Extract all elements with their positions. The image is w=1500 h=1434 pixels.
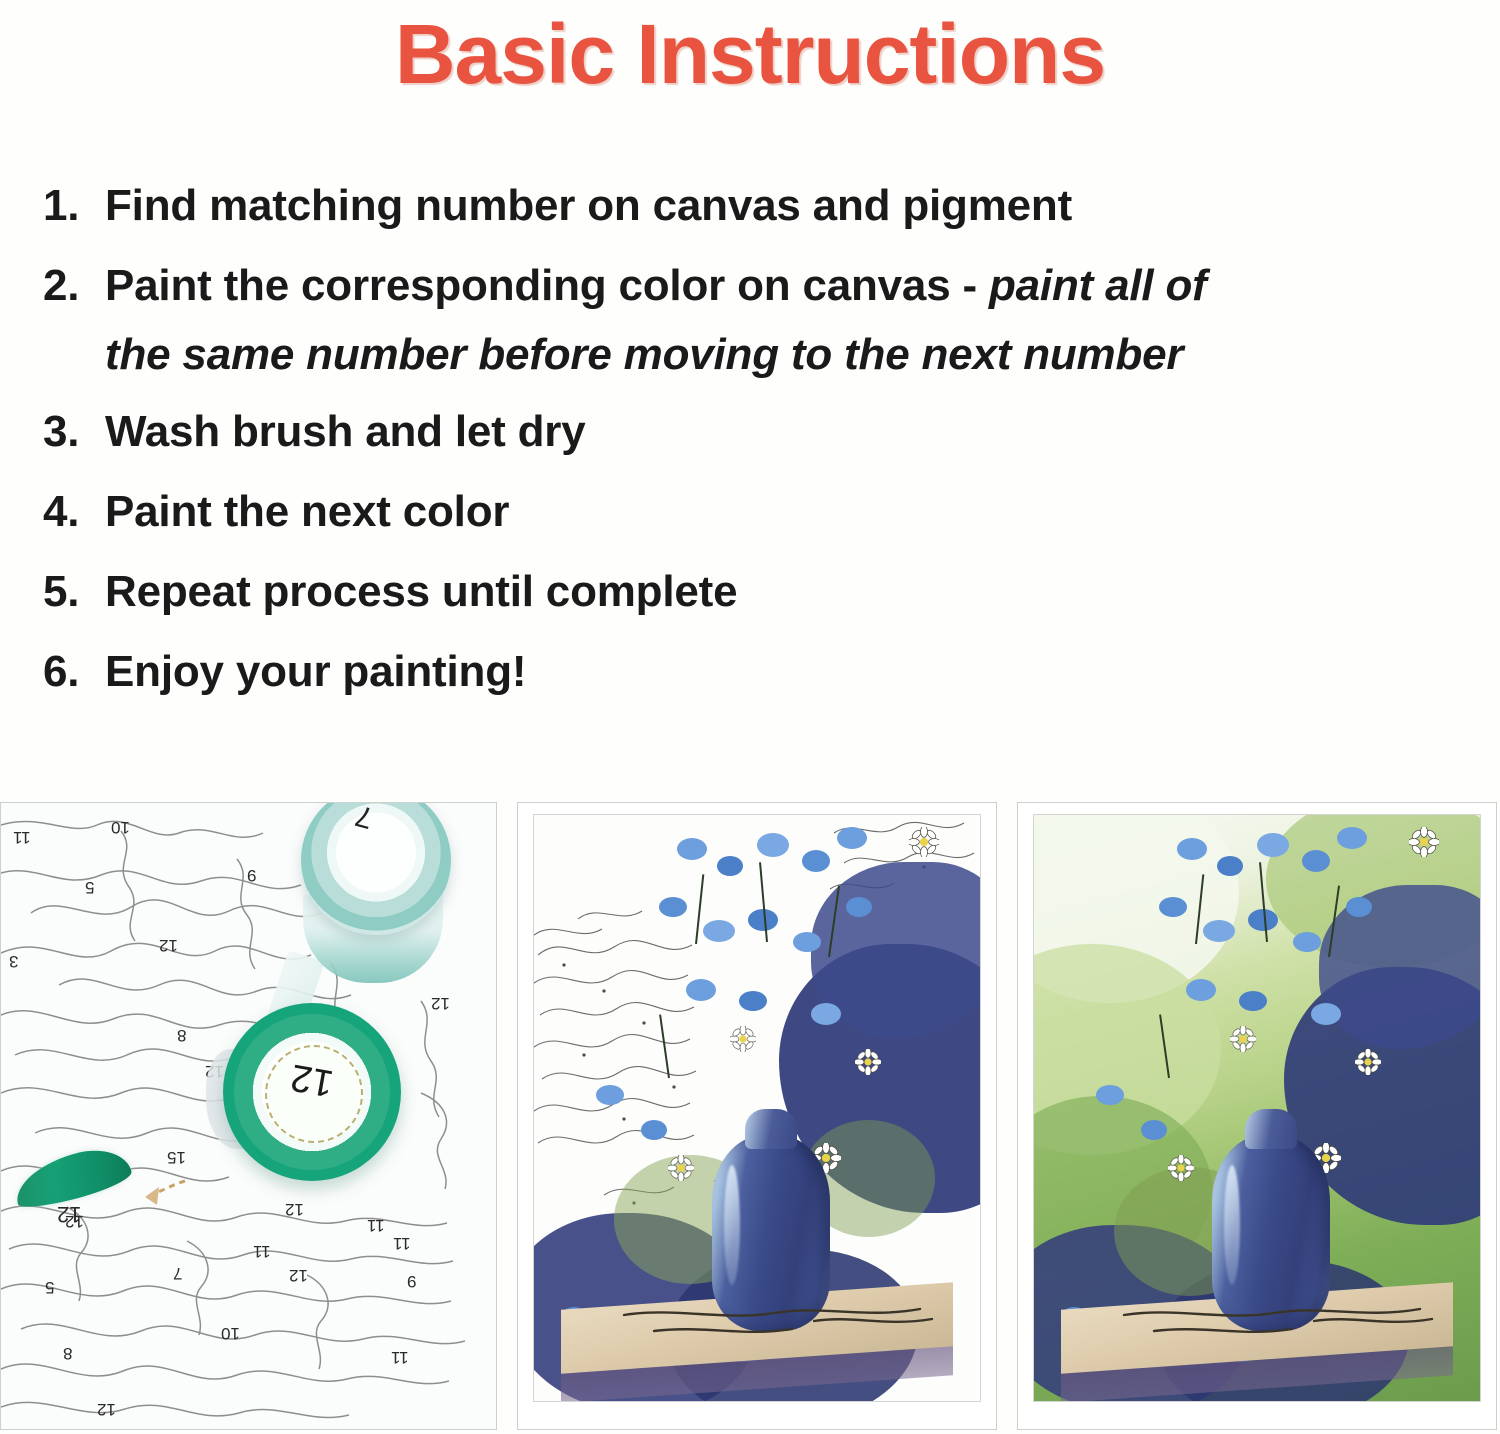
panel-in-progress: [517, 802, 997, 1430]
arrow-target-number: 12: [57, 1201, 81, 1227]
vase-highlight: [724, 1165, 740, 1285]
canvas-number: 5: [85, 877, 94, 897]
panel-blank-canvas: 11 10 5 9 3 12 8 12 12 11 15 9 12 11 12 …: [0, 802, 497, 1430]
instruction-text: Wash brush and let dry: [105, 410, 1460, 454]
paint-pot-label-12: 12: [288, 1055, 337, 1105]
canvas-number: 7: [173, 1263, 182, 1283]
cornflower: [596, 1085, 624, 1105]
cornflower: [1257, 833, 1289, 857]
blue-vase: [712, 1135, 830, 1331]
instruction-number: 4.: [43, 490, 105, 534]
instruction-number: 6.: [43, 650, 105, 694]
artwork-frame: [1034, 815, 1480, 1401]
canvas-number: 11: [367, 1215, 385, 1235]
instruction-item-2: 2. Paint the corresponding color on canv…: [43, 264, 1460, 308]
numbered-canvas: 11 10 5 9 3 12 8 12 12 11 15 9 12 11 12 …: [1, 803, 496, 1429]
canvas-number: 8: [177, 1025, 186, 1045]
daisy-flower: [668, 1155, 694, 1181]
cornflower: [739, 991, 767, 1011]
canvas-number: 12: [431, 993, 450, 1013]
panel-row: 11 10 5 9 3 12 8 12 12 11 15 9 12 11 12 …: [0, 802, 1500, 1434]
vase-neck: [1245, 1109, 1297, 1149]
cornflower: [1159, 897, 1187, 917]
daisy-flower: [1409, 827, 1439, 857]
cornflower: [1293, 932, 1321, 952]
canvas-number: 12: [159, 935, 178, 955]
canvas-number: 11: [253, 1241, 271, 1261]
daisy-flower: [730, 1026, 756, 1052]
cornflower: [837, 827, 867, 849]
instruction-continuation-2: the same number before moving to the nex…: [105, 330, 1460, 380]
page-title: Basic Instructions: [0, 0, 1500, 96]
instruction-number: 2.: [43, 264, 105, 308]
cornflower: [641, 1120, 667, 1140]
instruction-number: 5.: [43, 570, 105, 614]
canvas-number: 10: [221, 1323, 240, 1343]
instruction-text: Repeat process until complete: [105, 570, 1460, 614]
instruction-item-5: 5. Repeat process until complete: [43, 570, 1460, 614]
cornflower: [659, 897, 687, 917]
canvas-number: 10: [111, 817, 130, 837]
daisy-flower: [909, 827, 939, 857]
canvas-number: 8: [63, 1343, 72, 1363]
blue-vase: [1212, 1135, 1330, 1331]
panel-finished: [1017, 802, 1497, 1430]
panel-gap: [497, 802, 517, 1434]
cornflower: [757, 833, 789, 857]
daisy-flower: [1168, 1155, 1194, 1181]
cornflower: [1337, 827, 1367, 849]
canvas-number: 5: [45, 1277, 54, 1297]
instruction-text: Paint the next color: [105, 490, 1460, 534]
canvas-number: 3: [9, 951, 18, 971]
instruction-text: Enjoy your painting!: [105, 650, 1460, 694]
cornflower: [1141, 1120, 1167, 1140]
vase-highlight: [1224, 1165, 1240, 1285]
cornflower: [717, 856, 743, 876]
canvas-number: 11: [13, 827, 31, 847]
canvas-number: 12: [97, 1399, 116, 1419]
canvas-number: 11: [391, 1347, 409, 1367]
canvas-number: 9: [247, 865, 256, 885]
canvas-number: 12: [285, 1199, 304, 1219]
instruction-item-4: 4. Paint the next color: [43, 490, 1460, 534]
cornflower: [802, 850, 830, 872]
daisy-flower: [1355, 1049, 1381, 1075]
cornflower: [1311, 1003, 1341, 1025]
cornflower: [1239, 991, 1267, 1011]
instruction-item-3: 3. Wash brush and let dry: [43, 410, 1460, 454]
cornflower: [1186, 979, 1216, 1001]
instruction-number: 1.: [43, 184, 105, 228]
instruction-text-emphasis: paint all of: [989, 261, 1207, 310]
canvas-number: 11: [393, 1233, 411, 1253]
instruction-item-1: 1. Find matching number on canvas and pi…: [43, 184, 1460, 228]
canvas-number: 12: [289, 1265, 308, 1285]
artwork-in-progress: [534, 815, 980, 1401]
instruction-item-6: 6. Enjoy your painting!: [43, 650, 1460, 694]
artwork-frame: [534, 815, 980, 1401]
cornflower: [811, 1003, 841, 1025]
vase-neck: [745, 1109, 797, 1149]
instruction-number: 3.: [43, 410, 105, 454]
artwork-finished: [1034, 815, 1480, 1401]
daisy-flower: [855, 1049, 881, 1075]
panel-gap: [997, 802, 1017, 1434]
cornflower: [1096, 1085, 1124, 1105]
deep-blue-foliage: [1319, 885, 1480, 1049]
instruction-text: Find matching number on canvas and pigme…: [105, 184, 1460, 228]
cornflower: [686, 979, 716, 1001]
cornflower: [793, 932, 821, 952]
cornflower: [1203, 920, 1235, 942]
cornflower: [1217, 856, 1243, 876]
arrow-to-number-icon: [101, 1175, 187, 1211]
canvas-number: 15: [167, 1147, 186, 1167]
instruction-text: Paint the corresponding color on canvas …: [105, 264, 1460, 308]
cornflower: [1302, 850, 1330, 872]
instruction-list: 1. Find matching number on canvas and pi…: [0, 184, 1500, 694]
canvas-number: 9: [407, 1271, 416, 1291]
instruction-text-plain: Paint the corresponding color on canvas …: [105, 261, 989, 310]
daisy-flower: [1230, 1026, 1256, 1052]
